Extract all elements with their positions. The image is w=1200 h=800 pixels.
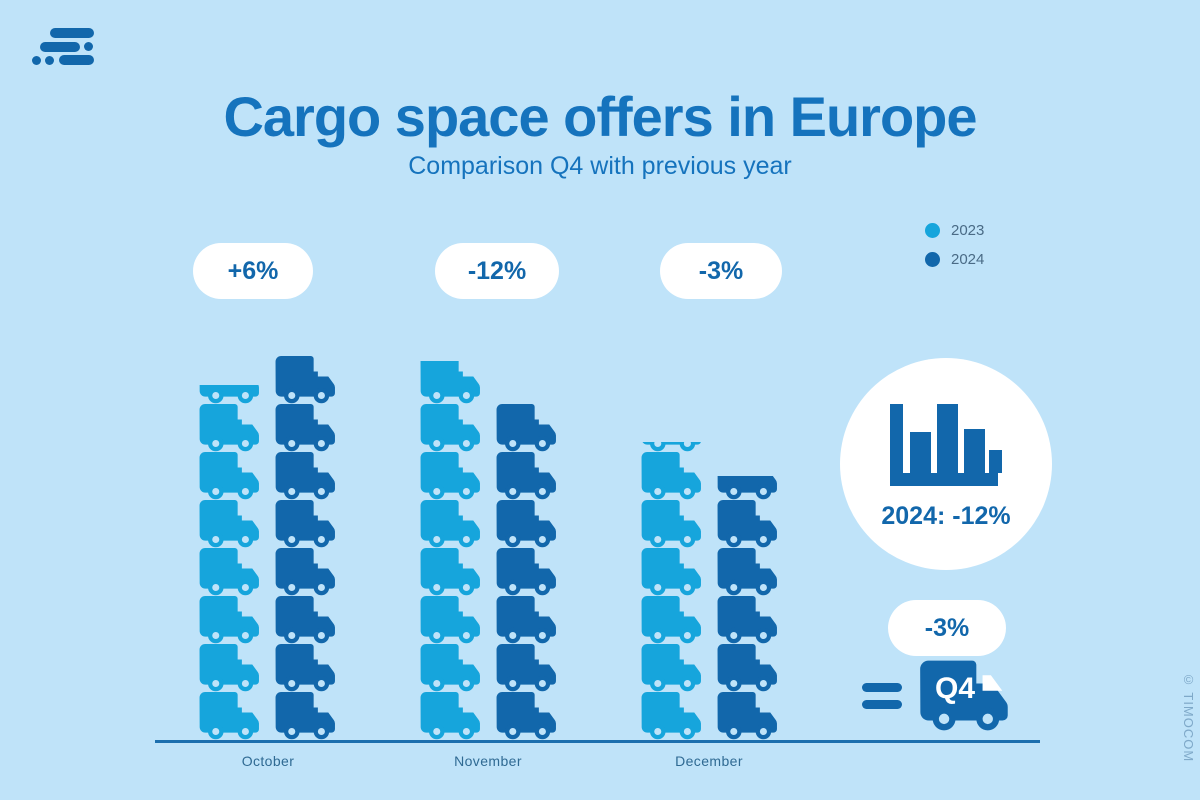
truck-unit: [638, 500, 710, 548]
page-subtitle: Comparison Q4 with previous year: [0, 152, 1200, 181]
truck-icon: [196, 644, 268, 692]
truck-icon: [272, 692, 344, 740]
truck-unit: [272, 548, 344, 596]
pictogram-column-december-2024: [714, 476, 786, 740]
copyright-text: © TIMOCOM: [1181, 672, 1196, 762]
truck-unit: [714, 476, 786, 500]
q4-truck: Q4: [916, 660, 1020, 732]
truck-unit: [417, 548, 489, 596]
truck-icon: [417, 404, 489, 452]
logo-dot-3: [45, 56, 54, 65]
truck-icon: [714, 500, 786, 548]
truck-unit: [417, 644, 489, 692]
axis-label-october: October: [183, 753, 353, 769]
truck-icon: [196, 692, 268, 740]
q4-label: Q4: [935, 672, 975, 706]
logo-dot-1: [84, 42, 93, 51]
truck-unit: [196, 644, 268, 692]
change-badge-november: -12%: [435, 243, 559, 299]
truck-icon: [272, 548, 344, 596]
truck-unit: [272, 644, 344, 692]
truck-unit: [272, 500, 344, 548]
truck-unit: [417, 500, 489, 548]
infographic-canvas: Cargo space offers in Europe Comparison …: [0, 0, 1200, 800]
truck-icon: [714, 476, 786, 500]
bar-chart-icon: [890, 398, 1002, 492]
truck-icon: [272, 356, 344, 404]
truck-unit: [417, 452, 489, 500]
truck-unit: [493, 404, 565, 452]
key-change-badge: -3%: [888, 600, 1006, 656]
truck-icon: [417, 361, 489, 404]
key-row: Q4: [862, 660, 1020, 732]
truck-unit: [714, 596, 786, 644]
truck-unit: [417, 361, 489, 404]
truck-icon: [493, 500, 565, 548]
truck-icon: [638, 692, 710, 740]
truck-unit: [638, 644, 710, 692]
callout-circle: 2024: -12%: [840, 358, 1052, 570]
legend-swatch-icon-2024: [925, 252, 940, 267]
equals-icon: [862, 681, 902, 711]
truck-unit: [493, 452, 565, 500]
truck-icon: [638, 500, 710, 548]
truck-icon: [714, 692, 786, 740]
truck-unit: [638, 692, 710, 740]
truck-unit: [196, 452, 268, 500]
truck-unit: [638, 442, 710, 452]
change-badge-december: -3%: [660, 243, 782, 299]
truck-icon: [638, 548, 710, 596]
truck-icon: [638, 452, 710, 500]
axis-label-december: December: [624, 753, 794, 769]
chart-legend: 2023 2024: [925, 222, 1045, 280]
truck-icon: [417, 692, 489, 740]
truck-unit: [493, 692, 565, 740]
axis-label-november: November: [403, 753, 573, 769]
legend-label-2023: 2023: [951, 222, 984, 239]
truck-icon: [493, 596, 565, 644]
truck-unit: [714, 692, 786, 740]
truck-unit: [417, 404, 489, 452]
truck-icon: [417, 644, 489, 692]
truck-icon: [196, 404, 268, 452]
truck-icon: [272, 644, 344, 692]
legend-swatch-icon-2023: [925, 223, 940, 238]
logo-bar-3: [59, 55, 94, 65]
truck-unit: [417, 596, 489, 644]
truck-icon: [714, 548, 786, 596]
truck-icon: [493, 404, 565, 452]
legend-label-2024: 2024: [951, 251, 984, 268]
truck-icon: [417, 500, 489, 548]
truck-icon: [493, 692, 565, 740]
logo-dot-2: [32, 56, 41, 65]
callout-caption: 2024: -12%: [881, 502, 1010, 531]
truck-icon: [196, 452, 268, 500]
truck-icon: [272, 452, 344, 500]
logo-bar-1: [50, 28, 94, 38]
page-title: Cargo space offers in Europe: [0, 88, 1200, 147]
truck-icon: [714, 644, 786, 692]
truck-unit: [272, 596, 344, 644]
pictogram-column-november-2023: [417, 361, 489, 740]
truck-icon: [417, 548, 489, 596]
truck-icon: [196, 385, 268, 404]
truck-unit: [196, 596, 268, 644]
truck-unit: [638, 452, 710, 500]
truck-icon: [272, 404, 344, 452]
truck-unit: [196, 500, 268, 548]
truck-icon: [272, 596, 344, 644]
truck-icon: [493, 644, 565, 692]
truck-unit: [196, 692, 268, 740]
truck-unit: [493, 596, 565, 644]
truck-icon: [638, 644, 710, 692]
truck-icon: [638, 442, 710, 452]
pictogram-column-october-2023: [196, 385, 268, 740]
truck-unit: [272, 404, 344, 452]
truck-unit: [493, 500, 565, 548]
truck-unit: [196, 404, 268, 452]
truck-unit: [638, 596, 710, 644]
pictogram-column-october-2024: [272, 356, 344, 740]
truck-icon: [493, 452, 565, 500]
chart-baseline: [155, 740, 1040, 743]
timocom-logo: [32, 28, 94, 66]
pictogram-column-november-2024: [493, 404, 565, 740]
truck-icon: [417, 596, 489, 644]
truck-icon: [417, 452, 489, 500]
truck-unit: [272, 692, 344, 740]
truck-unit: [272, 452, 344, 500]
truck-unit: [714, 500, 786, 548]
truck-unit: [493, 644, 565, 692]
pictogram-column-december-2023: [638, 442, 710, 740]
truck-unit: [196, 385, 268, 404]
truck-icon: [196, 596, 268, 644]
legend-item-2024: 2024: [925, 251, 1045, 268]
truck-icon: [714, 596, 786, 644]
legend-item-2023: 2023: [925, 222, 1045, 239]
truck-unit: [272, 356, 344, 404]
truck-unit: [196, 548, 268, 596]
truck-unit: [417, 692, 489, 740]
truck-icon: [272, 500, 344, 548]
truck-icon: [196, 500, 268, 548]
truck-icon: [196, 548, 268, 596]
logo-bar-2: [40, 42, 80, 52]
truck-unit: [638, 548, 710, 596]
change-badge-october: +6%: [193, 243, 313, 299]
truck-icon: [638, 596, 710, 644]
truck-unit: [714, 548, 786, 596]
truck-icon: [493, 548, 565, 596]
truck-unit: [714, 644, 786, 692]
truck-unit: [493, 548, 565, 596]
